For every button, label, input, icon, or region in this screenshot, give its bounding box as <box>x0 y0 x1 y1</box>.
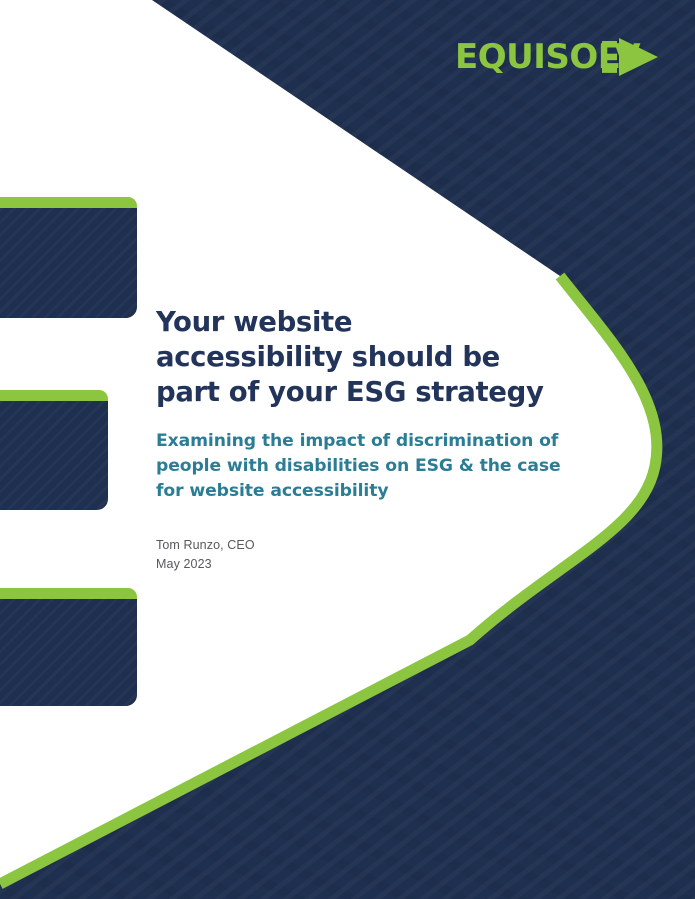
equisolv-logo[interactable]: EQUISOLV <box>455 34 660 80</box>
deco-card-middle <box>0 390 108 510</box>
deco-card-top <box>0 197 137 318</box>
equisolv-arrow-mark <box>602 37 660 77</box>
byline: Tom Runzo, CEO May 2023 <box>156 536 576 574</box>
cover-text-block: Your website accessibility should be par… <box>156 305 576 574</box>
deco-card-accent-bar <box>0 197 137 208</box>
deco-card-body <box>0 208 137 318</box>
document-subtitle: Examining the impact of discrimination o… <box>156 429 576 504</box>
deco-card-accent-bar <box>0 588 137 599</box>
byline-author: Tom Runzo, CEO <box>156 536 576 555</box>
document-title: Your website accessibility should be par… <box>156 305 576 410</box>
deco-card-accent-bar <box>0 390 108 401</box>
byline-date: May 2023 <box>156 555 576 574</box>
cover-page: EQUISOLV Your website accessibility shou… <box>0 0 695 899</box>
deco-card-body <box>0 401 108 510</box>
deco-card-bottom <box>0 588 137 706</box>
deco-card-body <box>0 599 137 706</box>
